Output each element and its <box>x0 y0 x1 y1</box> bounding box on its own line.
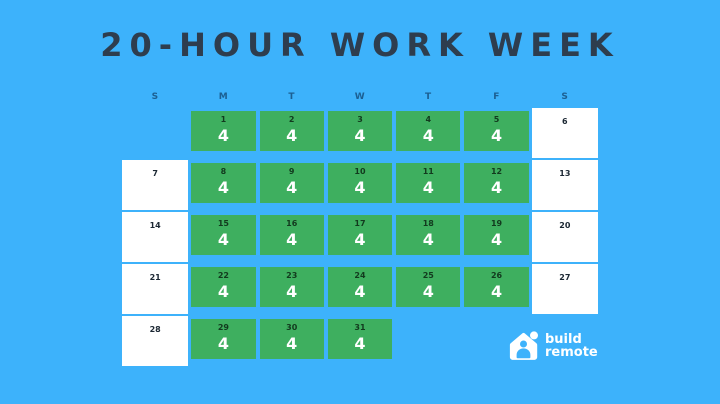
day-number: 29 <box>189 323 257 332</box>
day-number: 14 <box>121 221 189 230</box>
calendar-week-row: 14243444546 <box>121 108 599 160</box>
day-number: 8 <box>189 167 257 176</box>
house-person-icon <box>507 331 539 361</box>
calendar-day-cell[interactable]: 184 <box>394 212 462 264</box>
day-hours-value: 4 <box>326 126 394 145</box>
calendar-weeks: 1424344454678494104114124131415416417418… <box>121 108 599 368</box>
day-number: 6 <box>531 117 599 126</box>
calendar-day-cell[interactable]: 28 <box>121 316 189 368</box>
day-number: 19 <box>462 219 530 228</box>
calendar-cell-empty <box>121 108 189 160</box>
calendar-day-cell[interactable]: 34 <box>326 108 394 160</box>
calendar-day-cell[interactable]: 54 <box>462 108 530 160</box>
day-hours-value: 4 <box>394 230 462 249</box>
day-hours-value: 4 <box>394 178 462 197</box>
calendar-day-cell[interactable]: 254 <box>394 264 462 316</box>
weekday-label-tuesday: T <box>258 86 326 108</box>
calendar-day-cell[interactable]: 24 <box>258 108 326 160</box>
day-number: 12 <box>462 167 530 176</box>
day-hours-value: 4 <box>258 126 326 145</box>
calendar-cell-empty <box>394 316 462 368</box>
day-hours-value: 4 <box>326 178 394 197</box>
day-number: 5 <box>462 115 530 124</box>
calendar-day-cell[interactable]: 224 <box>189 264 257 316</box>
calendar-week-row: 7849410411412413 <box>121 160 599 212</box>
off-day-block <box>122 212 188 262</box>
day-hours-value: 4 <box>462 178 530 197</box>
day-number: 28 <box>121 325 189 334</box>
poster-canvas: 20-HOUR WORK WEEK S M T W T F S 14243444… <box>0 0 720 404</box>
day-hours-value: 4 <box>462 282 530 301</box>
calendar-day-cell[interactable]: 174 <box>326 212 394 264</box>
day-number: 1 <box>189 115 257 124</box>
weekday-header-row: S M T W T F S <box>121 86 599 108</box>
day-number: 24 <box>326 271 394 280</box>
off-day-block <box>532 108 598 158</box>
calendar-day-cell[interactable]: 20 <box>531 212 599 264</box>
weekday-label-thursday: T <box>394 86 462 108</box>
calendar-day-cell[interactable]: 94 <box>258 160 326 212</box>
day-number: 2 <box>258 115 326 124</box>
day-number: 21 <box>121 273 189 282</box>
calendar-day-cell[interactable]: 264 <box>462 264 530 316</box>
day-hours-value: 4 <box>189 334 257 353</box>
day-number: 11 <box>394 167 462 176</box>
calendar-grid: S M T W T F S 14243444546784941041141241… <box>121 86 599 368</box>
calendar-day-cell[interactable]: 6 <box>531 108 599 160</box>
buildremote-logo: build remote <box>507 331 598 361</box>
day-hours-value: 4 <box>394 282 462 301</box>
day-number: 23 <box>258 271 326 280</box>
day-number: 30 <box>258 323 326 332</box>
day-hours-value: 4 <box>258 334 326 353</box>
day-number: 10 <box>326 167 394 176</box>
day-hours-value: 4 <box>326 230 394 249</box>
calendar-week-row: 1415416417418419420 <box>121 212 599 264</box>
day-hours-value: 4 <box>189 282 257 301</box>
calendar-day-cell[interactable]: 154 <box>189 212 257 264</box>
weekday-label-saturday: S <box>531 86 599 108</box>
day-number: 20 <box>531 221 599 230</box>
day-number: 9 <box>258 167 326 176</box>
day-hours-value: 4 <box>394 126 462 145</box>
calendar-day-cell[interactable]: 294 <box>189 316 257 368</box>
day-number: 4 <box>394 115 462 124</box>
day-hours-value: 4 <box>462 230 530 249</box>
day-number: 15 <box>189 219 257 228</box>
logo-wordmark: build remote <box>545 333 598 359</box>
weekday-label-sunday: S <box>121 86 189 108</box>
day-hours-value: 4 <box>258 282 326 301</box>
calendar-day-cell[interactable]: 244 <box>326 264 394 316</box>
day-number: 17 <box>326 219 394 228</box>
off-day-block <box>122 160 188 210</box>
day-number: 3 <box>326 115 394 124</box>
day-number: 13 <box>531 169 599 178</box>
off-day-block <box>122 316 188 366</box>
day-hours-value: 4 <box>258 230 326 249</box>
off-day-block <box>532 160 598 210</box>
calendar-day-cell[interactable]: 13 <box>531 160 599 212</box>
day-hours-value: 4 <box>189 230 257 249</box>
page-title: 20-HOUR WORK WEEK <box>0 26 720 64</box>
off-day-block <box>532 212 598 262</box>
calendar-day-cell[interactable]: 124 <box>462 160 530 212</box>
calendar-day-cell[interactable]: 314 <box>326 316 394 368</box>
off-day-block <box>532 264 598 314</box>
calendar-day-cell[interactable]: 164 <box>258 212 326 264</box>
day-number: 25 <box>394 271 462 280</box>
calendar-week-row: 2122423424425426427 <box>121 264 599 316</box>
day-hours-value: 4 <box>189 178 257 197</box>
day-number: 27 <box>531 273 599 282</box>
day-hours-value: 4 <box>258 178 326 197</box>
logo-line-remote: remote <box>545 346 598 359</box>
weekday-label-wednesday: W <box>326 86 394 108</box>
day-number: 26 <box>462 271 530 280</box>
calendar-day-cell[interactable]: 194 <box>462 212 530 264</box>
calendar-day-cell[interactable]: 21 <box>121 264 189 316</box>
day-number: 16 <box>258 219 326 228</box>
calendar-day-cell[interactable]: 104 <box>326 160 394 212</box>
calendar-day-cell[interactable]: 14 <box>121 212 189 264</box>
calendar-day-cell[interactable]: 114 <box>394 160 462 212</box>
calendar-day-cell[interactable]: 234 <box>258 264 326 316</box>
calendar-day-cell[interactable]: 44 <box>394 108 462 160</box>
calendar-day-cell[interactable]: 14 <box>189 108 257 160</box>
day-hours-value: 4 <box>189 126 257 145</box>
day-hours-value: 4 <box>326 282 394 301</box>
day-number: 31 <box>326 323 394 332</box>
calendar-day-cell[interactable]: 27 <box>531 264 599 316</box>
calendar-day-cell[interactable]: 7 <box>121 160 189 212</box>
weekday-label-monday: M <box>189 86 257 108</box>
off-day-block <box>122 264 188 314</box>
day-number: 18 <box>394 219 462 228</box>
weekday-label-friday: F <box>462 86 530 108</box>
day-hours-value: 4 <box>462 126 530 145</box>
calendar-day-cell[interactable]: 304 <box>258 316 326 368</box>
day-number: 7 <box>121 169 189 178</box>
day-number: 22 <box>189 271 257 280</box>
calendar-day-cell[interactable]: 84 <box>189 160 257 212</box>
day-hours-value: 4 <box>326 334 394 353</box>
